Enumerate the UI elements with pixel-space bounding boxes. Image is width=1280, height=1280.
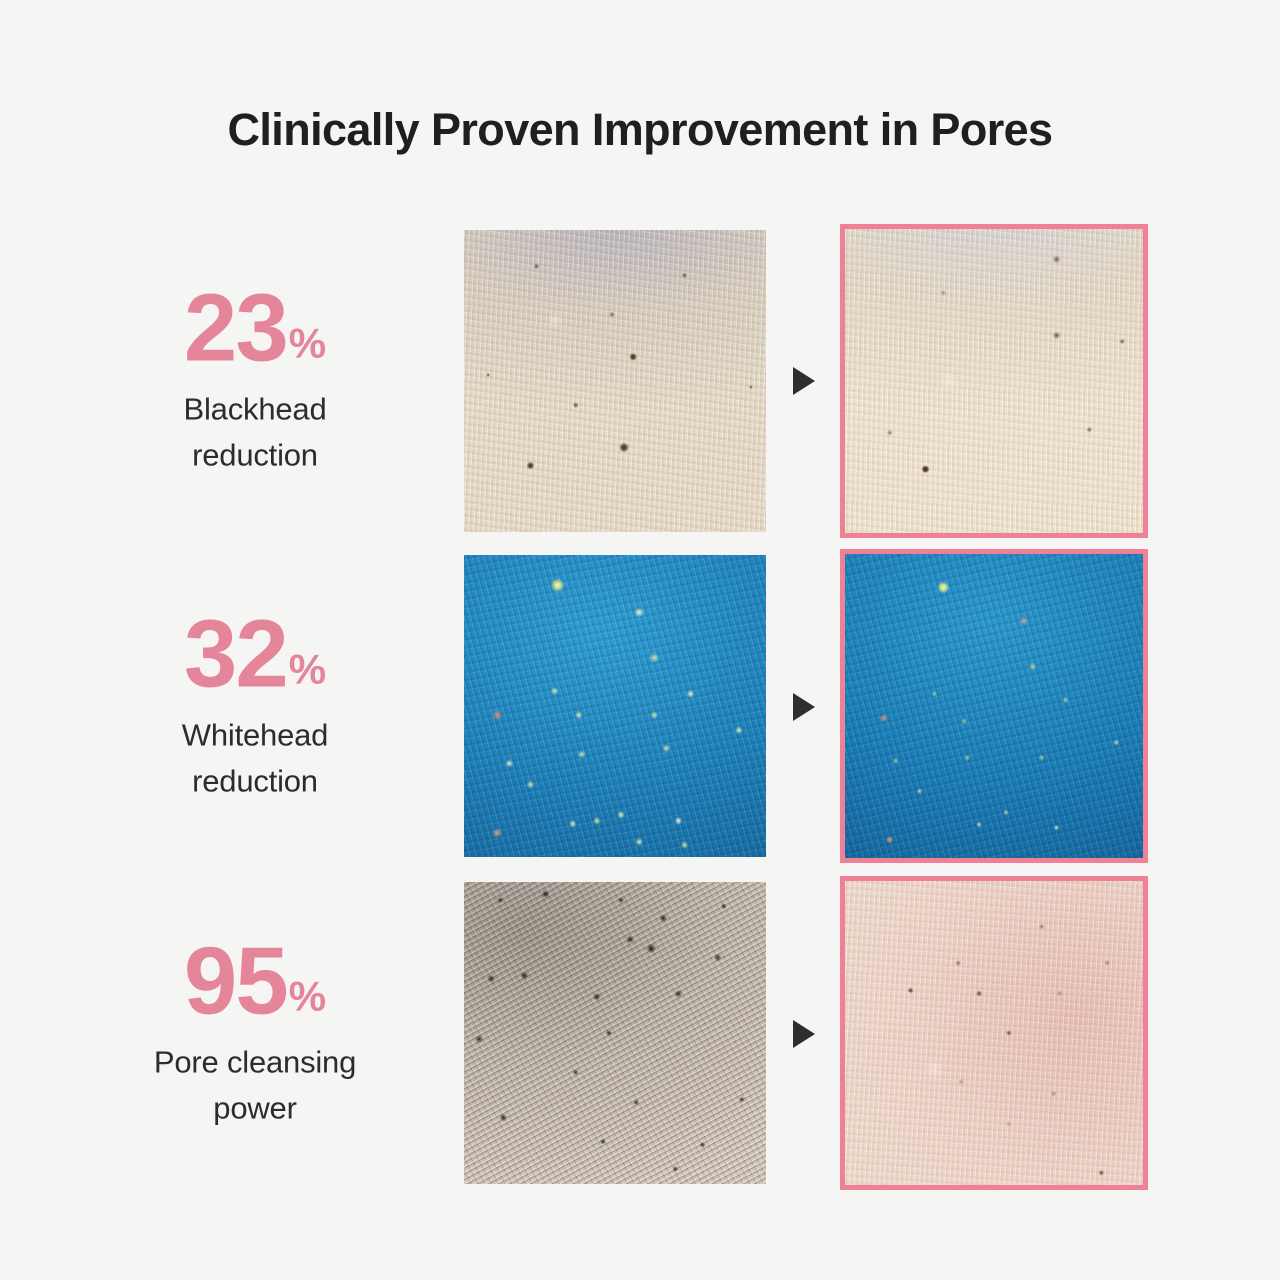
- stat-block-pore-cleansing: 95 % Pore cleansing power: [60, 938, 450, 1131]
- stat-label-line-2: reduction: [60, 758, 450, 803]
- stat-number-line: 32 %: [60, 611, 450, 699]
- skin-texture-before: [464, 230, 766, 532]
- before-image-whitehead: [464, 555, 766, 857]
- result-row-pore-cleansing: 95 % Pore cleansing power: [0, 882, 1280, 1186]
- stat-value: 23: [184, 285, 287, 373]
- triangle-right-icon: [793, 367, 815, 395]
- stat-number-line: 95 %: [60, 938, 450, 1026]
- uv-texture-before: [464, 555, 766, 857]
- stat-label: Blackhead reduction: [60, 387, 450, 478]
- result-row-blackhead: 23 % Blackhead reduction: [0, 230, 1280, 532]
- stat-percent-symbol: %: [289, 649, 326, 691]
- stat-label: Whitehead reduction: [60, 713, 450, 804]
- stat-percent-symbol: %: [289, 323, 326, 365]
- before-image-pore-cleansing: [464, 882, 766, 1184]
- triangle-right-icon: [793, 1020, 815, 1048]
- results-rows: 23 % Blackhead reduction 32: [0, 0, 1280, 1280]
- stat-block-whitehead: 32 % Whitehead reduction: [60, 611, 450, 804]
- stat-percent-symbol: %: [289, 976, 326, 1018]
- stat-label-line-1: Whitehead: [60, 713, 450, 758]
- clean-skin-texture-after: [845, 881, 1143, 1185]
- stat-label-line-2: power: [60, 1085, 450, 1130]
- uv-texture-after: [845, 554, 1143, 858]
- before-image-blackhead: [464, 230, 766, 532]
- after-image-blackhead: [840, 224, 1148, 538]
- result-row-whitehead: 32 % Whitehead reduction: [0, 555, 1280, 859]
- stat-label-line-1: Pore cleansing: [60, 1040, 450, 1085]
- stat-label-line-2: reduction: [60, 432, 450, 477]
- stat-number-line: 23 %: [60, 285, 450, 373]
- after-image-whitehead: [840, 549, 1148, 863]
- skin-texture-after: [845, 229, 1143, 533]
- after-image-pore-cleansing: [840, 876, 1148, 1190]
- congested-pore-texture-before: [464, 882, 766, 1184]
- stat-value: 32: [184, 611, 287, 699]
- stat-block-blackhead: 23 % Blackhead reduction: [60, 285, 450, 478]
- stat-label: Pore cleansing power: [60, 1040, 450, 1131]
- stat-value: 95: [184, 938, 287, 1026]
- triangle-right-icon: [793, 693, 815, 721]
- clinical-results-infographic: Clinically Proven Improvement in Pores 2…: [0, 0, 1280, 1280]
- stat-label-line-1: Blackhead: [60, 387, 450, 432]
